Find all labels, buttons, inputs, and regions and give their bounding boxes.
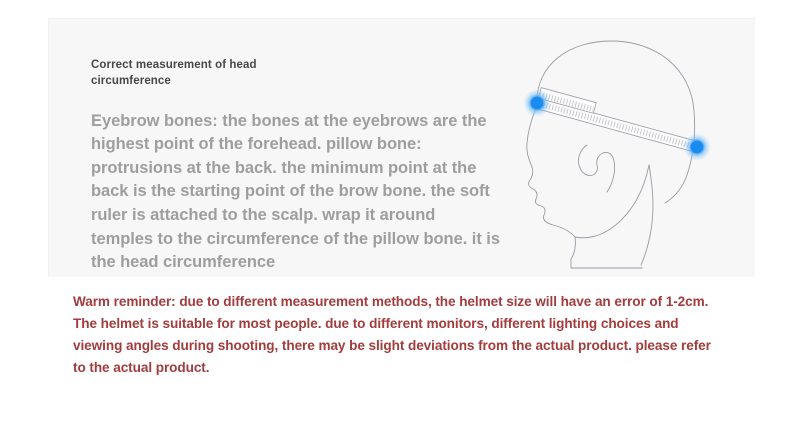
- warm-reminder-text: Warm reminder: due to different measurem…: [73, 291, 718, 379]
- tape-tick-marks: [537, 100, 699, 153]
- jaw-line-path: [575, 165, 649, 238]
- face-profile-path: [527, 105, 575, 237]
- soft-measuring-tape: [536, 88, 701, 153]
- panel-body-text: Eyebrow bones: the bones at the eyebrows…: [91, 90, 501, 275]
- neck-front-path: [571, 237, 575, 268]
- ear-outline-path: [578, 145, 614, 192]
- panel-heading: Correct measurement of head circumferenc…: [91, 57, 271, 90]
- neck-back-path: [641, 165, 653, 265]
- text-column: Correct measurement of head circumferenc…: [91, 57, 501, 275]
- pillow-bone-point-core: [691, 141, 703, 153]
- head-outline: [527, 41, 695, 268]
- info-panel: Correct measurement of head circumferenc…: [48, 18, 755, 277]
- brow-bone-point-core: [531, 97, 543, 109]
- occipital-line-path: [665, 175, 687, 203]
- head-profile-measuring-diagram: [501, 25, 751, 275]
